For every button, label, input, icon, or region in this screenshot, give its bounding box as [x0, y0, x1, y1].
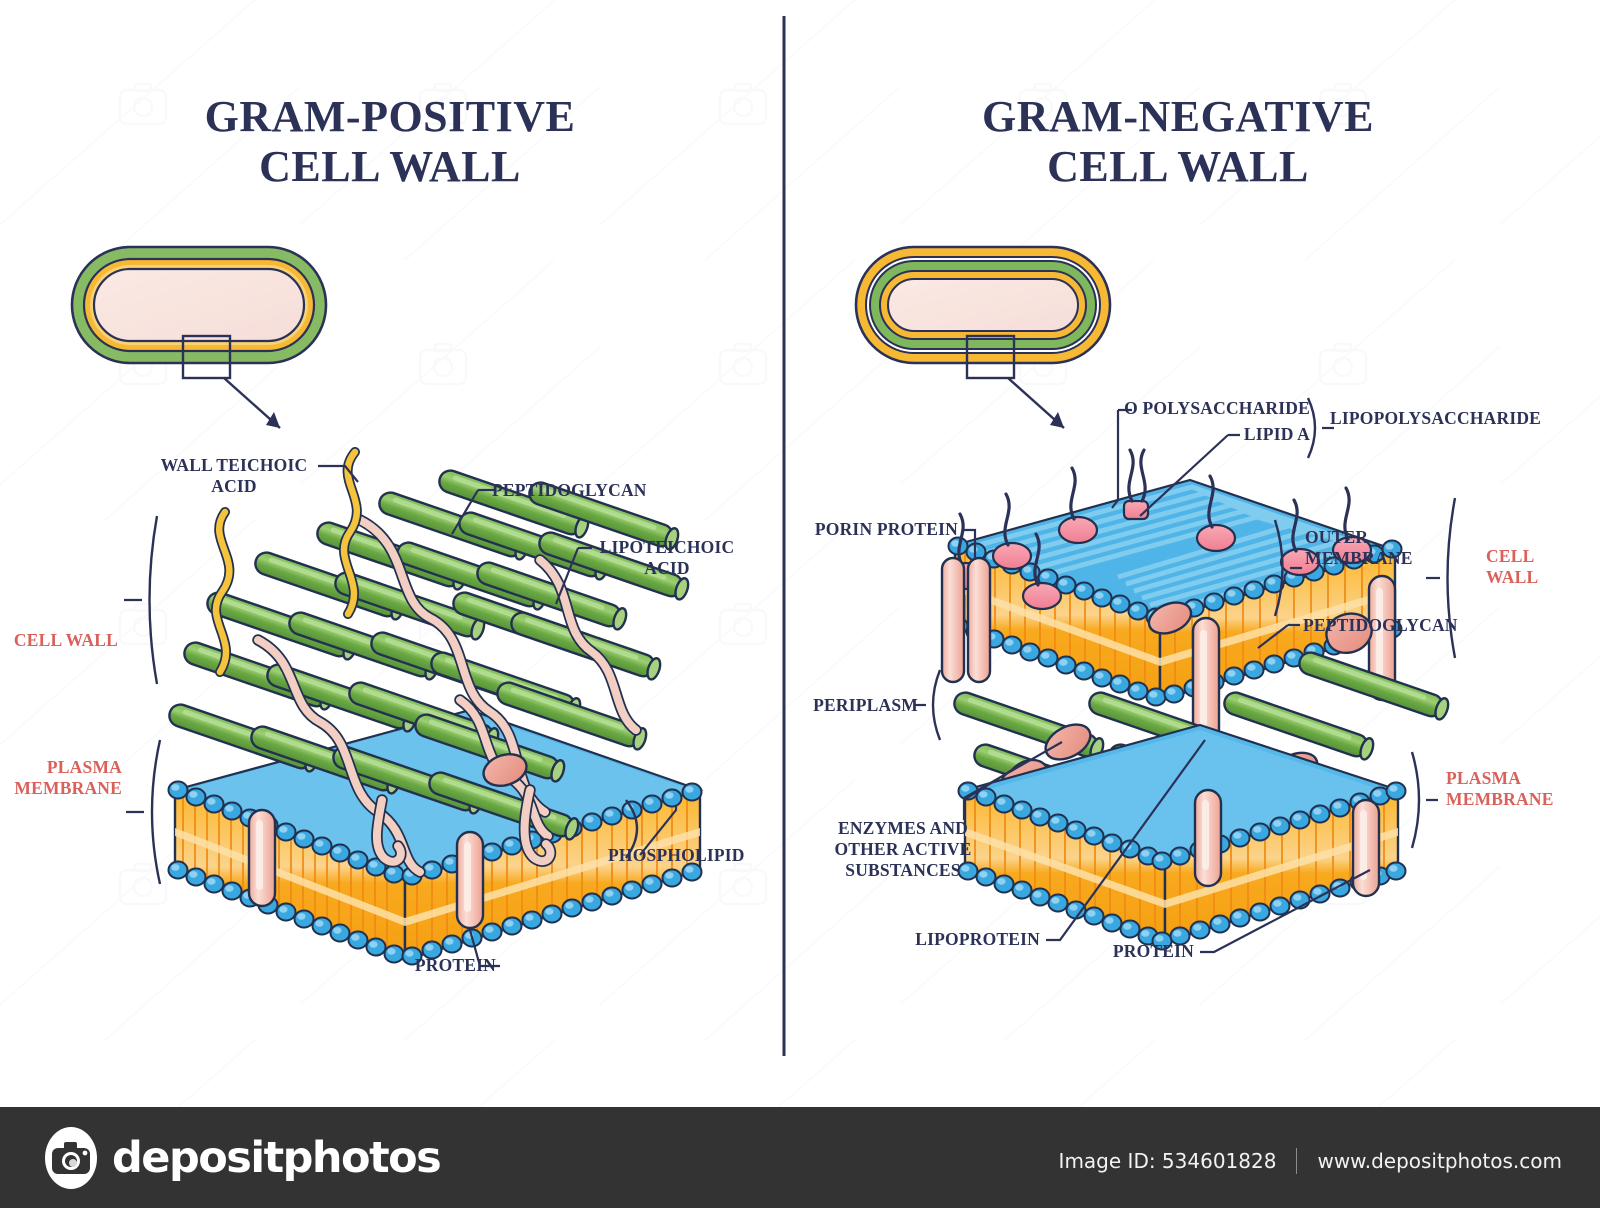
membrane-protein-left — [249, 810, 275, 906]
label-periplasm: PERIPLASM — [790, 695, 918, 716]
porin-protein-mid — [1193, 618, 1219, 742]
label-protein-left: PROTEIN — [380, 955, 496, 976]
label-plasma-membrane-left-line1: PLASMA — [0, 757, 122, 778]
label-lipoteichoic-acid: LIPOTEICHOIC ACID — [592, 537, 742, 579]
label-cell-wall-left: CELL WALL — [0, 630, 118, 651]
label-porin-protein: PORIN PROTEIN — [800, 519, 958, 540]
diagram-canvas: GRAM-POSITIVE CELL WALL GRAM-NEGATIVE CE… — [0, 0, 1600, 1208]
label-plasma-membrane-right: PLASMA MEMBRANE — [1446, 768, 1598, 810]
label-outer-membrane-line2: MEMBRANE — [1305, 548, 1465, 569]
footer-separator — [1296, 1148, 1297, 1174]
label-lipopolysaccharide: LIPOPOLYSACCHARIDE — [1330, 408, 1541, 429]
label-plasma-membrane-right-line2: MEMBRANE — [1446, 789, 1598, 810]
label-lipoteichoic-acid-line2: ACID — [592, 558, 742, 579]
label-lipoteichoic-acid-line1: LIPOTEICHOIC — [592, 537, 742, 558]
label-lipoprotein: LIPOPROTEIN — [886, 929, 1040, 950]
gram-negative-bacterium — [856, 247, 1110, 428]
label-plasma-membrane-left-line2: MEMBRANE — [0, 778, 122, 799]
label-cell-wall-right: CELL WALL — [1486, 546, 1596, 588]
label-o-polysaccharide: O POLYSACCHARIDE — [1110, 398, 1310, 419]
gram-negative-title-line1: GRAM-NEGATIVE — [928, 92, 1428, 142]
label-phospholipid: PHOSPHOLIPID — [608, 845, 745, 866]
footer-meta: Image ID: 534601828 www.depositphotos.co… — [1059, 1148, 1562, 1174]
label-cell-wall-right-line1: CELL — [1486, 546, 1596, 567]
label-wall-teichoic-acid: WALL TEICHOIC ACID — [148, 455, 320, 497]
label-enzymes-and-other-active-substances: ENZYMES AND OTHER ACTIVE SUBSTANCES — [810, 818, 996, 881]
gram-positive-title-line1: GRAM-POSITIVE — [140, 92, 640, 142]
label-outer-membrane-line1: OUTER — [1305, 527, 1465, 548]
label-peptidoglycan-left: PEPTIDOGLYCAN — [492, 480, 647, 501]
gram-negative-title: GRAM-NEGATIVE CELL WALL — [928, 92, 1428, 192]
gram-positive-title: GRAM-POSITIVE CELL WALL — [140, 92, 640, 192]
label-enzymes-line2: OTHER ACTIVE — [810, 839, 996, 860]
footer-website[interactable]: www.depositphotos.com — [1317, 1149, 1562, 1173]
inner-membrane-protein-left — [1195, 790, 1221, 886]
label-enzymes-line3: SUBSTANCES — [810, 860, 996, 881]
label-peptidoglycan-right: PEPTIDOGLYCAN — [1303, 615, 1458, 636]
label-lipid-a: LIPID A — [1150, 424, 1310, 445]
label-cell-wall-right-line2: WALL — [1486, 567, 1596, 588]
label-plasma-membrane-left: PLASMA MEMBRANE — [0, 757, 122, 799]
camera-icon — [40, 1127, 102, 1189]
label-outer-membrane: OUTER MEMBRANE — [1305, 527, 1465, 569]
label-wall-teichoic-acid-line2: ACID — [148, 476, 320, 497]
label-enzymes-line1: ENZYMES AND — [810, 818, 996, 839]
gram-negative-title-line2: CELL WALL — [928, 142, 1428, 192]
gram-positive-bacterium — [72, 247, 326, 428]
footer-image-id: Image ID: 534601828 — [1059, 1149, 1277, 1173]
label-wall-teichoic-acid-line1: WALL TEICHOIC — [148, 455, 320, 476]
membrane-protein-right — [457, 832, 483, 928]
depositphotos-wordmark: depositphotos — [112, 1133, 440, 1183]
inner-membrane-protein-right — [1353, 800, 1379, 896]
footer-bar: depositphotos Image ID: 534601828 www.de… — [0, 1107, 1600, 1208]
depositphotos-logo: depositphotos — [40, 1127, 440, 1189]
label-protein-right: PROTEIN — [1078, 941, 1194, 962]
gram-positive-title-line2: CELL WALL — [140, 142, 640, 192]
label-plasma-membrane-right-line1: PLASMA — [1446, 768, 1598, 789]
